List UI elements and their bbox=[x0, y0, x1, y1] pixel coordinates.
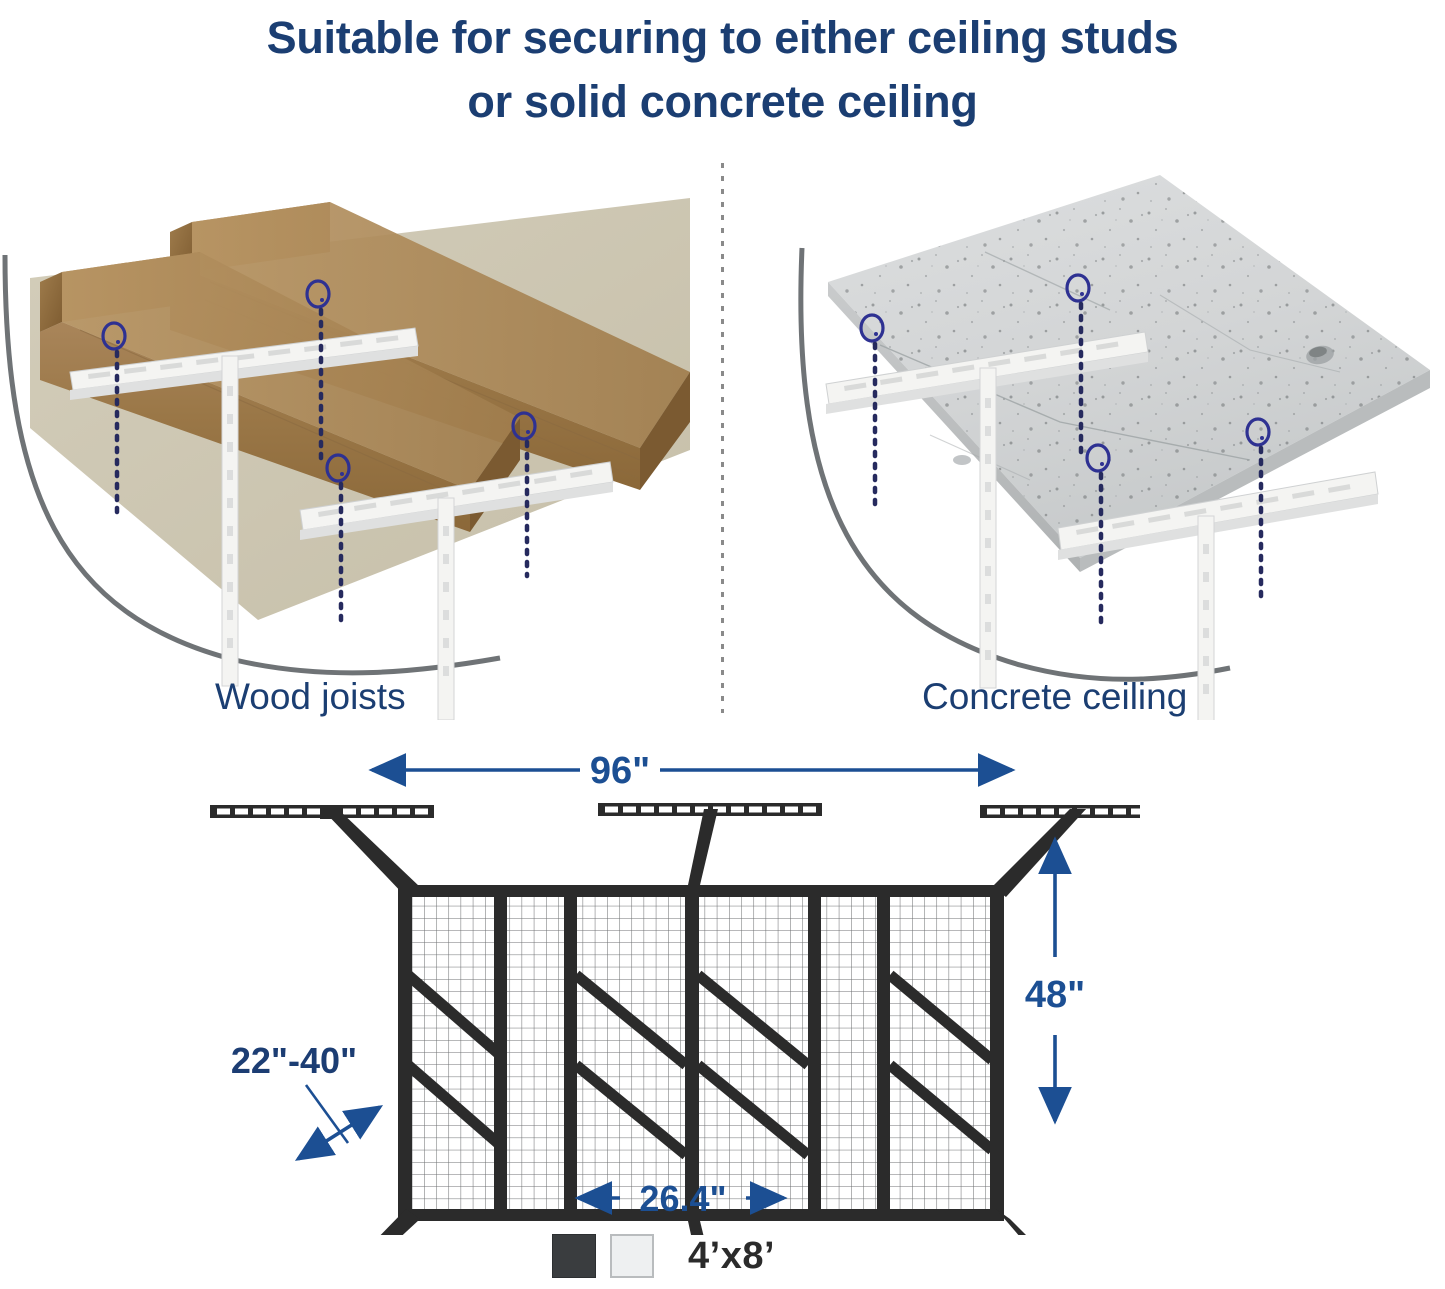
concrete-ceiling-illustration: Concrete ceiling bbox=[730, 160, 1445, 720]
light-swatch bbox=[610, 1234, 654, 1278]
vertical-post-left bbox=[980, 368, 996, 688]
panel-divider bbox=[721, 163, 724, 713]
hanger-arm-top-right bbox=[992, 809, 1086, 897]
page-title: Suitable for securing to either ceiling … bbox=[0, 6, 1445, 134]
rack-svg: 96" bbox=[180, 735, 1140, 1235]
wood-joist-illustration: Wood joists bbox=[0, 160, 715, 720]
dark-swatch bbox=[552, 1234, 596, 1278]
dimension-depth-label: 22"-40" bbox=[231, 1040, 357, 1081]
mesh-bay-1 bbox=[408, 891, 494, 1213]
dimension-span-label: 26.4" bbox=[639, 1178, 726, 1219]
vertical-post-right bbox=[438, 498, 454, 720]
size-legend: 4’x8’ bbox=[552, 1228, 892, 1284]
rack-body bbox=[398, 885, 1004, 1221]
concrete-ceiling-svg bbox=[730, 160, 1445, 720]
vertical-post-right bbox=[1198, 516, 1214, 720]
dimension-height-48: 48" bbox=[1025, 840, 1085, 1121]
concrete-ceiling-caption: Concrete ceiling bbox=[922, 675, 1187, 719]
dimension-width-96: 96" bbox=[372, 750, 1012, 792]
legend-size-label: 4’x8’ bbox=[688, 1235, 775, 1278]
vertical-post-left bbox=[222, 356, 238, 686]
mesh-bay-5 bbox=[820, 891, 878, 1213]
hanger-arm-bottom-left bbox=[322, 1209, 420, 1235]
title-line-1: Suitable for securing to either ceiling … bbox=[0, 6, 1445, 70]
dimension-width-label: 96" bbox=[590, 750, 650, 792]
hanger-arm-top-center bbox=[688, 809, 718, 885]
hanger-arm-bottom-right bbox=[996, 1209, 1086, 1235]
mesh-bay-2 bbox=[506, 891, 564, 1213]
dimension-depth-22-40: 22"-40" bbox=[231, 1040, 380, 1159]
dimension-height-label: 48" bbox=[1025, 974, 1085, 1016]
diagram-stage: Suitable for securing to either ceiling … bbox=[0, 0, 1445, 1289]
wood-joist-caption: Wood joists bbox=[215, 675, 406, 719]
wood-joist-svg bbox=[0, 160, 715, 720]
hanger-arm-top-left bbox=[320, 805, 420, 897]
title-line-2: or solid concrete ceiling bbox=[0, 70, 1445, 134]
rack-dimension-drawing: 96" bbox=[180, 735, 1140, 1235]
mount-bracket-top-right bbox=[980, 805, 1140, 818]
